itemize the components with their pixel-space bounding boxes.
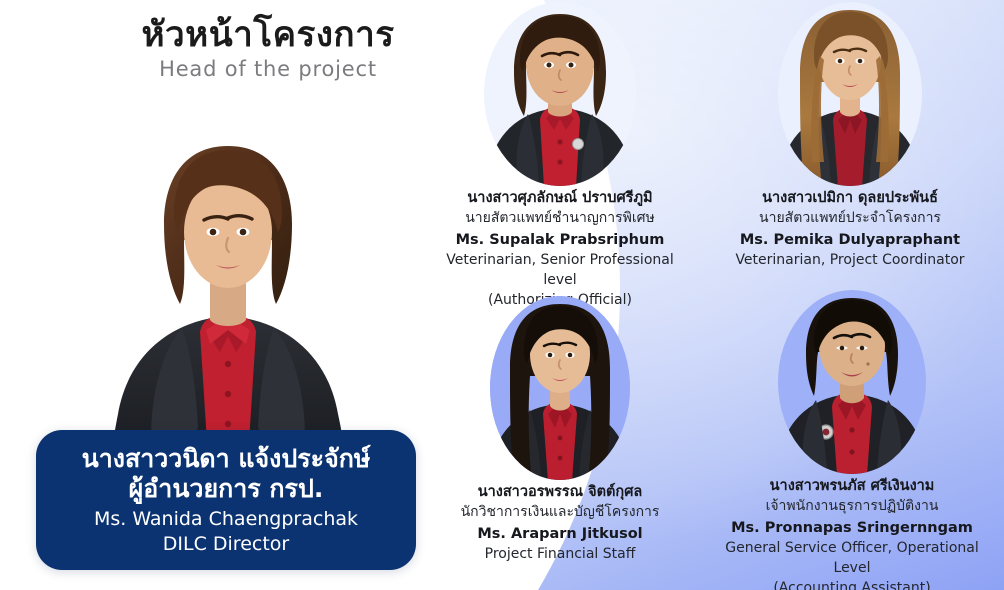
staff-name-english: Ms. Pemika Dulyapraphant bbox=[722, 230, 978, 251]
staff-name-thai: นางสาวพรนภัส ศรีเงินงาม bbox=[712, 477, 992, 497]
staff-card-top-right: นางสาวเปมิกา ดุลยประพันธ์ นายสัตวแพทย์ปร… bbox=[722, 2, 978, 271]
title-english: Head of the project bbox=[88, 57, 448, 82]
staff-role-thai: นายสัตวแพทย์ประจำโครงการ bbox=[722, 209, 978, 228]
staff-role-thai: นักวิชาการเงินและบัญชีโครงการ bbox=[432, 503, 688, 522]
staff-role-thai: เจ้าพนักงานธุรการปฏิบัติงาน bbox=[712, 497, 992, 516]
staff-portrait-supalak bbox=[470, 2, 650, 187]
staff-name-english: Ms. Pronnapas Sringernngam bbox=[712, 518, 992, 539]
staff-role-english: Veterinarian, Project Coordinator bbox=[722, 251, 978, 271]
staff-portrait-pemika bbox=[760, 2, 940, 187]
staff-caption: นางสาวเปมิกา ดุลยประพันธ์ นายสัตวแพทย์ปร… bbox=[722, 189, 978, 271]
director-role-thai: ผู้อำนวยการ กรป. bbox=[129, 474, 324, 505]
staff-role-english: Project Financial Staff bbox=[432, 545, 688, 565]
staff-name-thai: นางสาวศุภลักษณ์ ปราบศรีภูมิ bbox=[432, 189, 688, 209]
staff-name-english: Ms. Supalak Prabsriphum bbox=[432, 230, 688, 251]
director-portrait-photo bbox=[112, 128, 344, 458]
staff-card-bottom-right: นางสาวพรนภัส ศรีเงินงาม เจ้าพนักงานธุรกา… bbox=[712, 290, 992, 590]
director-name-english: Ms. Wanida Chaengprachak bbox=[94, 507, 358, 532]
staff-name-english: Ms. Araparn Jitkusol bbox=[432, 524, 688, 545]
staff-caption: นางสาวพรนภัส ศรีเงินงาม เจ้าพนักงานธุรกา… bbox=[712, 477, 992, 590]
staff-card-bottom-left: นางสาวอรพรรณ จิตต์กุศล นักวิชาการเงินและ… bbox=[432, 296, 688, 565]
title-thai: หัวหน้าโครงการ bbox=[88, 16, 448, 55]
staff-name-thai: นางสาวอรพรรณ จิตต์กุศล bbox=[432, 483, 688, 503]
staff-card-top-left: นางสาวศุภลักษณ์ ปราบศรีภูมิ นายสัตวแพทย์… bbox=[432, 2, 688, 310]
staff-name-thai: นางสาวเปมิกา ดุลยประพันธ์ bbox=[722, 189, 978, 209]
staff-portrait-araparn bbox=[470, 296, 650, 481]
director-name-card: นางสาววนิดา แจ้งประจักษ์ ผู้อำนวยการ กรป… bbox=[36, 430, 416, 570]
director-name-thai: นางสาววนิดา แจ้งประจักษ์ bbox=[82, 444, 371, 475]
staff-caption: นางสาวศุภลักษณ์ ปราบศรีภูมิ นายสัตวแพทย์… bbox=[432, 189, 688, 310]
staff-caption: นางสาวอรพรรณ จิตต์กุศล นักวิชาการเงินและ… bbox=[432, 483, 688, 565]
staff-portrait-pronnapas bbox=[762, 290, 942, 475]
staff-role-thai: นายสัตวแพทย์ชำนาญการพิเศษ bbox=[432, 209, 688, 228]
infographic-canvas: หัวหน้าโครงการ Head of the project bbox=[0, 0, 1004, 590]
staff-role-english-extra: (Accounting Assistant) bbox=[712, 579, 992, 590]
staff-role-english: General Service Officer, Operational Lev… bbox=[712, 539, 992, 578]
page-title: หัวหน้าโครงการ Head of the project bbox=[88, 16, 448, 82]
staff-role-english: Veterinarian, Senior Professional level bbox=[432, 251, 688, 290]
director-role-english: DILC Director bbox=[163, 532, 289, 557]
